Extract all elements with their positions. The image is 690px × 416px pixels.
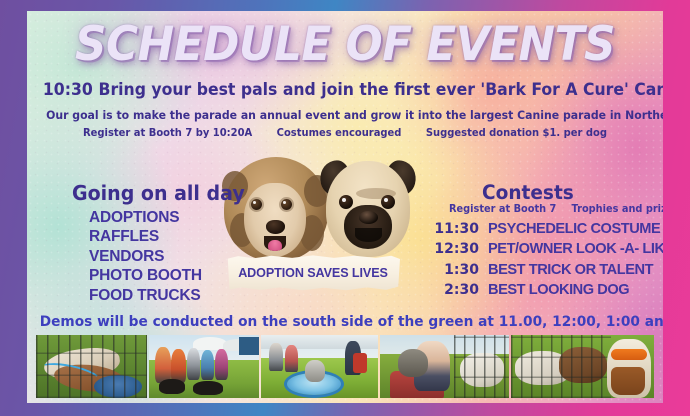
pug-eye-left [339,195,353,209]
parade-costumes-note: Costumes encouraged [277,127,402,139]
page-title: SCHEDULE OF EVENTS [49,21,640,68]
person [269,343,283,371]
parade-time: 10:30 [43,80,93,99]
photo-festival-crowd [149,335,258,398]
contest-row: 1:30 BEST TRICK OR TALENT [431,260,663,280]
contests-list: 11:30 PSYCHEDELIC COSTUME 12:30 PET/OWNE… [431,219,663,300]
photo-strip [36,335,654,398]
orange-goggles [611,349,647,360]
list-item: PHOTO BOOTH [89,266,202,285]
event-poster: SCHEDULE OF EVENTS 10:30Bring your best … [0,0,690,416]
contest-time: 11:30 [431,219,479,239]
pug-nose [359,211,378,224]
contest-time: 2:30 [431,280,479,300]
dog-vest [611,367,645,395]
contest-name: BEST LOOKING DOG [488,280,629,300]
person [187,348,200,380]
dogs-photo-cutout [220,149,420,269]
parade-register-note: Register at Booth 7 by 10:20A [83,127,252,139]
contest-row: 2:30 BEST LOOKING DOG [431,280,663,300]
photo-woman-holding-dog [380,335,509,398]
demos-line: Demos will be conducted on the south sid… [40,314,651,330]
contests-heading: Contests [482,181,574,204]
pug-muzzle [344,205,392,249]
contest-row: 11:30 PSYCHEDELIC COSTUME [431,219,663,239]
dog-on-lap [398,349,428,377]
contest-time: 12:30 [431,239,479,259]
contests-subline: Register at Booth 7Trophies and prizes a… [449,203,663,215]
list-item: ADOPTIONS [89,208,202,227]
person [171,349,186,383]
contest-name: BEST TRICK OR TALENT [488,260,653,280]
doodle-tongue [268,240,282,251]
labradoodle-dog [224,157,328,269]
doodle-eye-right [281,199,292,210]
contests-trophies-note: Trophies and prizes awarded [572,203,663,215]
vendor-booth [239,337,258,355]
doodle-mouth [264,236,286,251]
adoption-sign: ADOPTION SAVES LIVES [226,255,400,291]
photo-dog-in-kiddie-pool [261,335,378,398]
person [215,349,228,380]
contest-time: 1:30 [431,260,479,280]
contest-name: PSYCHEDELIC COSTUME [488,219,660,239]
pen-fence [454,335,509,398]
parade-details-line: Register at Booth 7 by 10:20ACostumes en… [46,127,644,139]
photo-dogs-sleeping-in-pen [36,335,147,398]
all-day-heading: Going on all day [72,181,245,205]
parade-headline: 10:30Bring your best pals and join the f… [43,80,647,99]
pug-eye-right [381,195,395,209]
contest-row: 12:30 PET/OWNER LOOK -A- LIKE [431,239,663,259]
red-bag [353,353,367,373]
list-item: RAFFLES [89,227,202,246]
photo-poodle-with-goggles [511,335,654,398]
list-item: VENDORS [89,247,202,266]
person [155,347,171,383]
parade-donation-note: Suggested donation $1. per dog [426,127,607,139]
dog-silhouette [159,379,185,394]
person [285,345,298,372]
adoption-sign-text: ADOPTION SAVES LIVES [226,266,400,280]
doodle-nose [266,220,285,234]
dog-standing-in-pool [305,360,325,382]
contests-register-note: Register at Booth 7 [449,203,556,215]
doodle-eye-left [251,199,262,210]
person [201,350,214,380]
pug-dog [318,155,418,269]
list-item: FOOD TRUCKS [89,286,202,305]
parade-goal-line: Our goal is to make the parade an annual… [46,108,644,122]
poster-artwork-panel: SCHEDULE OF EVENTS 10:30Bring your best … [27,11,663,403]
dog-silhouette [193,381,223,395]
pen-fence [511,335,611,398]
all-day-list: ADOPTIONS RAFFLES VENDORS PHOTO BOOTH FO… [89,208,202,305]
pen-fence [36,335,147,398]
parade-text: Bring your best pals and join the first … [99,80,663,99]
pug-lip [355,228,382,242]
contest-name: PET/OWNER LOOK -A- LIKE [488,239,663,259]
